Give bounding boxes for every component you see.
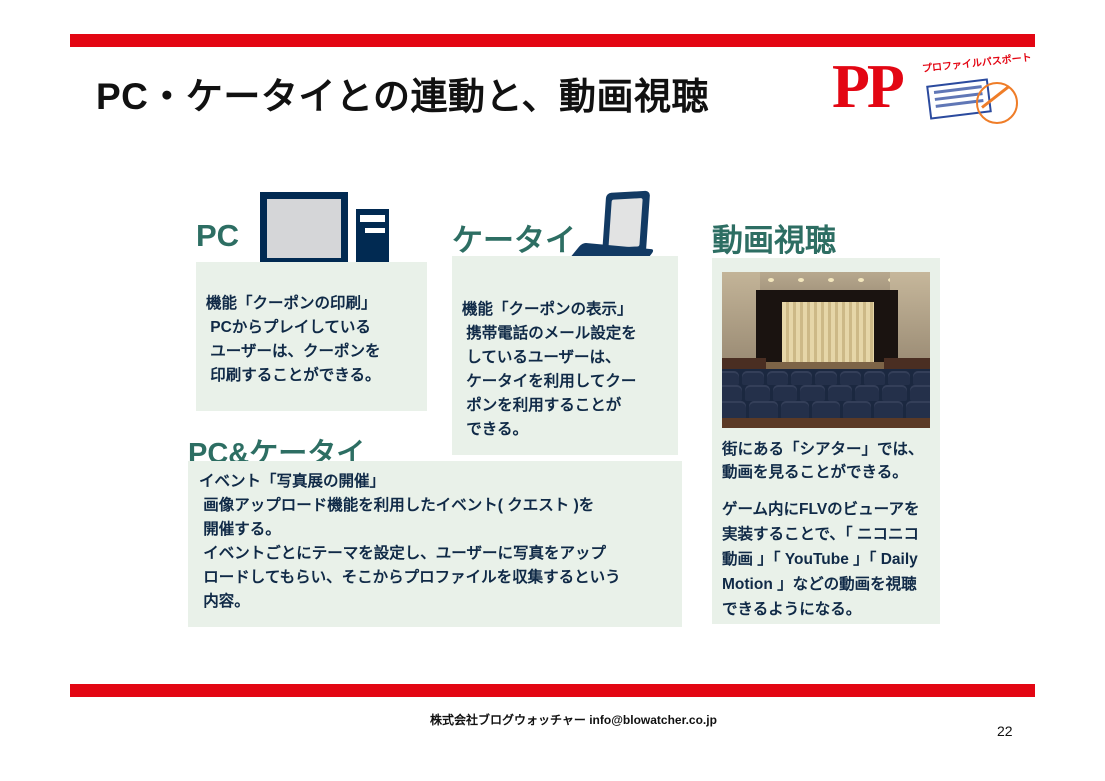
slide-canvas: PC・ケータイとの連動と、動画視聴 PP プロファイルパスポート PC 機能「ク… bbox=[0, 0, 1105, 781]
panel-keitai-text: 機能「クーポンの表示」 携帯電話のメール設定を しているユーザーは、 ケータイを… bbox=[462, 298, 637, 442]
footer-company: 株式会社ブログウォッチャー info@blowatcher.co.jp bbox=[430, 711, 717, 728]
theater-interior-photo bbox=[722, 272, 930, 428]
section-heading-movie: 動画視聴 bbox=[712, 215, 836, 260]
page-title: PC・ケータイとの連動と、動画視聴 bbox=[96, 66, 709, 120]
logo: PP プロファイルパスポート bbox=[832, 56, 1032, 134]
panel-pc-keitai-text: イベント「写真展の開催」 画像アップロード機能を利用したイベント( クエスト )… bbox=[199, 470, 621, 614]
panel-pc-text: 機能「クーポンの印刷」 PCからプレイしている ユーザーは、クーポンを 印刷する… bbox=[206, 292, 381, 388]
panel-movie-detail-text: ゲーム内にFLVのビューアを 実装することで、「 ニコニコ 動画 」「 YouT… bbox=[722, 497, 920, 622]
logo-stamp-circle-icon bbox=[976, 82, 1018, 124]
bottom-red-rule bbox=[70, 684, 1035, 697]
section-heading-pc: PC bbox=[196, 218, 239, 254]
logo-tagline: プロファイルパスポート bbox=[921, 49, 1032, 75]
section-heading-keitai: ケータイ bbox=[452, 215, 576, 260]
top-red-rule bbox=[70, 34, 1035, 47]
page-number: 22 bbox=[997, 723, 1013, 739]
logo-pp-mark: PP bbox=[832, 56, 902, 118]
panel-movie-lead-text: 街にある「シアター」では、 動画を見ることができる。 bbox=[722, 438, 924, 484]
